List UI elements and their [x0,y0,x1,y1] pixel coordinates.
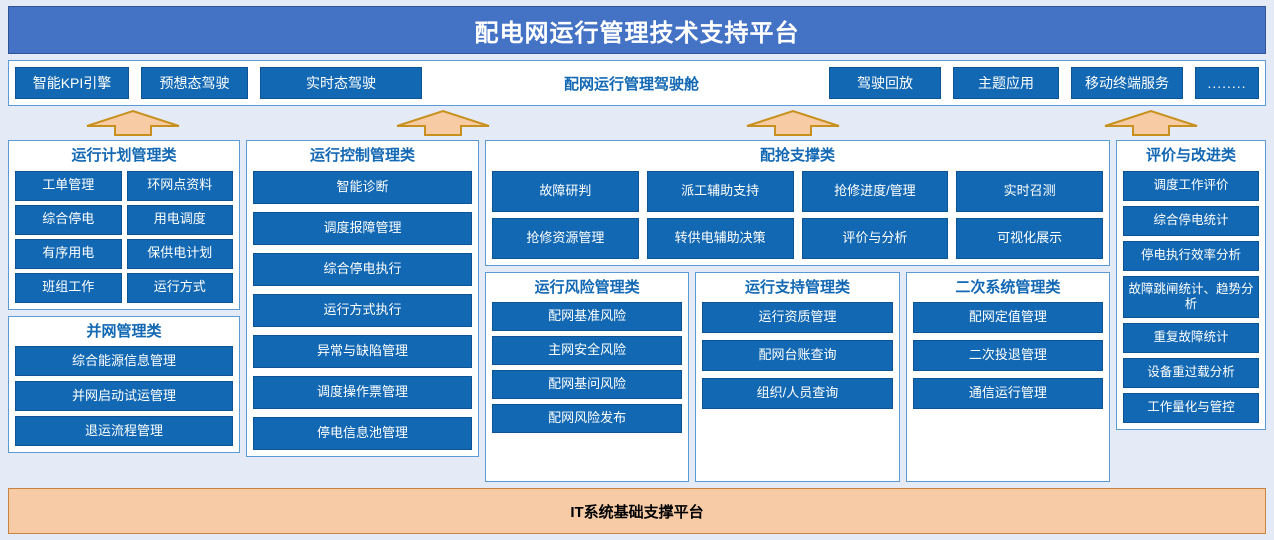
nav-button-kpi-engine[interactable]: 智能KPI引擎 [15,67,129,99]
module-button-guaranteed-supply-plan[interactable]: 保供电计划 [127,239,234,269]
panel-title-grid-connect-management: 并网管理类 [15,324,233,341]
module-button-integrated-outage[interactable]: 综合停电 [15,205,122,235]
module-button-dispatch-work-evaluation[interactable]: 调度工作评价 [1123,171,1259,201]
column-plan-and-grid-connect: 运行计划管理类 工单管理 环网点资料 综合停电 用电调度 有序用电 保供电计划 … [8,140,240,482]
module-button-evaluation-analysis[interactable]: 评价与分析 [802,218,949,259]
panel-evaluation-improvement: 评价与改进类 调度工作评价 综合停电统计 停电执行效率分析 故障跳闸统计、趋势分… [1116,140,1266,430]
module-button-grid-connect-trial[interactable]: 并网启动试运管理 [15,381,233,411]
module-button-ring-network-data[interactable]: 环网点资料 [127,171,234,201]
arrow-up-icon-3 [745,109,841,137]
module-button-orderly-power-use[interactable]: 有序用电 [15,239,122,269]
plan-button-grid: 工单管理 环网点资料 综合停电 用电调度 有序用电 保供电计划 班组工作 运行方… [15,171,233,303]
module-button-work-order[interactable]: 工单管理 [15,171,122,201]
column-evaluation-improvement: 评价与改进类 调度工作评价 综合停电统计 停电执行效率分析 故障跳闸统计、趋势分… [1116,140,1266,482]
module-button-operation-mode[interactable]: 运行方式 [127,273,234,303]
secondary-button-stack: 配网定值管理 二次投退管理 通信运行管理 [913,302,1103,409]
panel-grid-connect-management: 并网管理类 综合能源信息管理 并网启动试运管理 退运流程管理 [8,316,240,454]
nav-center-label: 配网运行管理驾驶舱 [434,73,829,94]
module-button-transfer-supply-decision[interactable]: 转供电辅助决策 [647,218,794,259]
module-button-dispatch-operation-ticket[interactable]: 调度操作票管理 [253,376,472,409]
module-button-decommission-process[interactable]: 退运流程管理 [15,416,233,446]
arrow-row [8,106,1266,140]
panel-title-risk-management: 运行风险管理类 [492,280,682,297]
module-button-org-personnel-query[interactable]: 组织/人员查询 [702,378,892,409]
module-button-operation-mode-execution[interactable]: 运行方式执行 [253,294,472,327]
module-button-distribution-base-risk[interactable]: 配网基问风险 [492,370,682,399]
panel-title-operation-control: 运行控制管理类 [253,148,472,165]
grid-connect-button-stack: 综合能源信息管理 并网启动试运管理 退运流程管理 [15,346,233,446]
nav-button-more[interactable]: ........ [1195,67,1259,99]
module-button-realtime-telemetry[interactable]: 实时召测 [956,171,1103,212]
nav-button-realtime-driving[interactable]: 实时态驾驶 [260,67,422,99]
module-button-distribution-risk-release[interactable]: 配网风险发布 [492,404,682,433]
platform-architecture-diagram: 配电网运行管理技术支持平台 智能KPI引擎 预想态驾驶 实时态驾驶 配网运行管理… [0,0,1274,540]
module-button-main-grid-safety-risk[interactable]: 主网安全风险 [492,336,682,365]
column-center: 配抢支撑类 故障研判 派工辅助支持 抢修进度/管理 实时召测 抢修资源管理 转供… [485,140,1110,482]
nav-button-forecast-driving[interactable]: 预想态驾驶 [141,67,248,99]
panel-operation-control: 运行控制管理类 智能诊断 调度报障管理 综合停电执行 运行方式执行 异常与缺陷管… [246,140,479,457]
column-operation-control: 运行控制管理类 智能诊断 调度报障管理 综合停电执行 运行方式执行 异常与缺陷管… [246,140,479,482]
module-button-repair-resource-management[interactable]: 抢修资源管理 [492,218,639,259]
module-button-outage-info-pool[interactable]: 停电信息池管理 [253,417,472,450]
module-button-repair-progress[interactable]: 抢修进度/管理 [802,171,949,212]
module-columns: 运行计划管理类 工单管理 环网点资料 综合停电 用电调度 有序用电 保供电计划 … [8,140,1266,482]
nav-button-theme-application[interactable]: 主题应用 [953,67,1059,99]
module-button-communication-operation[interactable]: 通信运行管理 [913,378,1103,409]
module-button-distribution-baseline-risk[interactable]: 配网基准风险 [492,302,682,331]
module-button-distribution-ledger-query[interactable]: 配网台账查询 [702,340,892,371]
module-button-team-work[interactable]: 班组工作 [15,273,122,303]
module-button-distribution-setting-value[interactable]: 配网定值管理 [913,302,1103,333]
module-button-secondary-put-withdraw[interactable]: 二次投退管理 [913,340,1103,371]
module-button-fault-trip-statistics-trend[interactable]: 故障跳闸统计、趋势分析 [1123,276,1259,318]
page-header: 配电网运行管理技术支持平台 [8,6,1266,54]
panel-title-repair-support: 配抢支撑类 [492,148,1103,165]
module-button-dispatch-assist[interactable]: 派工辅助支持 [647,171,794,212]
module-button-integrated-outage-statistics[interactable]: 综合停电统计 [1123,206,1259,236]
panel-secondary-system: 二次系统管理类 配网定值管理 二次投退管理 通信运行管理 [906,272,1110,483]
panel-title-operation-support: 运行支持管理类 [702,280,892,297]
module-button-visualization-display[interactable]: 可视化展示 [956,218,1103,259]
footer-title: IT系统基础支撑平台 [570,501,703,522]
arrow-up-icon-2 [395,109,491,137]
cockpit-nav-bar: 智能KPI引擎 预想态驾驶 实时态驾驶 配网运行管理驾驶舱 驾驶回放 主题应用 … [8,60,1266,106]
module-button-outage-efficiency-analysis[interactable]: 停电执行效率分析 [1123,241,1259,271]
risk-button-stack: 配网基准风险 主网安全风险 配网基问风险 配网风险发布 [492,302,682,433]
page-footer: IT系统基础支撑平台 [8,488,1266,534]
panel-repair-support: 配抢支撑类 故障研判 派工辅助支持 抢修进度/管理 实时召测 抢修资源管理 转供… [485,140,1110,266]
panel-risk-management: 运行风险管理类 配网基准风险 主网安全风险 配网基问风险 配网风险发布 [485,272,689,483]
module-button-integrated-outage-execution[interactable]: 综合停电执行 [253,253,472,286]
arrow-up-icon-4 [1103,109,1199,137]
control-button-stack: 智能诊断 调度报障管理 综合停电执行 运行方式执行 异常与缺陷管理 调度操作票管… [253,171,472,450]
repair-button-grid: 故障研判 派工辅助支持 抢修进度/管理 实时召测 抢修资源管理 转供电辅助决策 … [492,171,1103,259]
panel-title-plan-management: 运行计划管理类 [15,148,233,165]
nav-button-mobile-terminal-service[interactable]: 移动终端服务 [1071,67,1183,99]
module-button-dispatch-fault-report[interactable]: 调度报障管理 [253,212,472,245]
support-button-stack: 运行资质管理 配网台账查询 组织/人员查询 [702,302,892,409]
arrow-up-icon-1 [85,109,181,137]
nav-button-driving-replay[interactable]: 驾驶回放 [829,67,941,99]
evaluate-button-stack: 调度工作评价 综合停电统计 停电执行效率分析 故障跳闸统计、趋势分析 重复故障统… [1123,171,1259,423]
module-button-operation-qualification[interactable]: 运行资质管理 [702,302,892,333]
module-button-equipment-overload-analysis[interactable]: 设备重过载分析 [1123,358,1259,388]
module-button-anomaly-defect-management[interactable]: 异常与缺陷管理 [253,335,472,368]
panel-operation-support: 运行支持管理类 运行资质管理 配网台账查询 组织/人员查询 [695,272,899,483]
center-bottom-panels: 运行风险管理类 配网基准风险 主网安全风险 配网基问风险 配网风险发布 运行支持… [485,272,1110,483]
module-button-intelligent-diagnosis[interactable]: 智能诊断 [253,171,472,204]
module-button-repeated-fault-statistics[interactable]: 重复故障统计 [1123,323,1259,353]
panel-plan-management: 运行计划管理类 工单管理 环网点资料 综合停电 用电调度 有序用电 保供电计划 … [8,140,240,310]
module-button-integrated-energy-info[interactable]: 综合能源信息管理 [15,346,233,376]
module-button-fault-judgement[interactable]: 故障研判 [492,171,639,212]
module-button-power-dispatch[interactable]: 用电调度 [127,205,234,235]
panel-title-evaluation-improvement: 评价与改进类 [1123,148,1259,165]
panel-title-secondary-system: 二次系统管理类 [913,280,1103,297]
module-button-workload-quantify-control[interactable]: 工作量化与管控 [1123,393,1259,423]
page-title: 配电网运行管理技术支持平台 [475,13,800,48]
